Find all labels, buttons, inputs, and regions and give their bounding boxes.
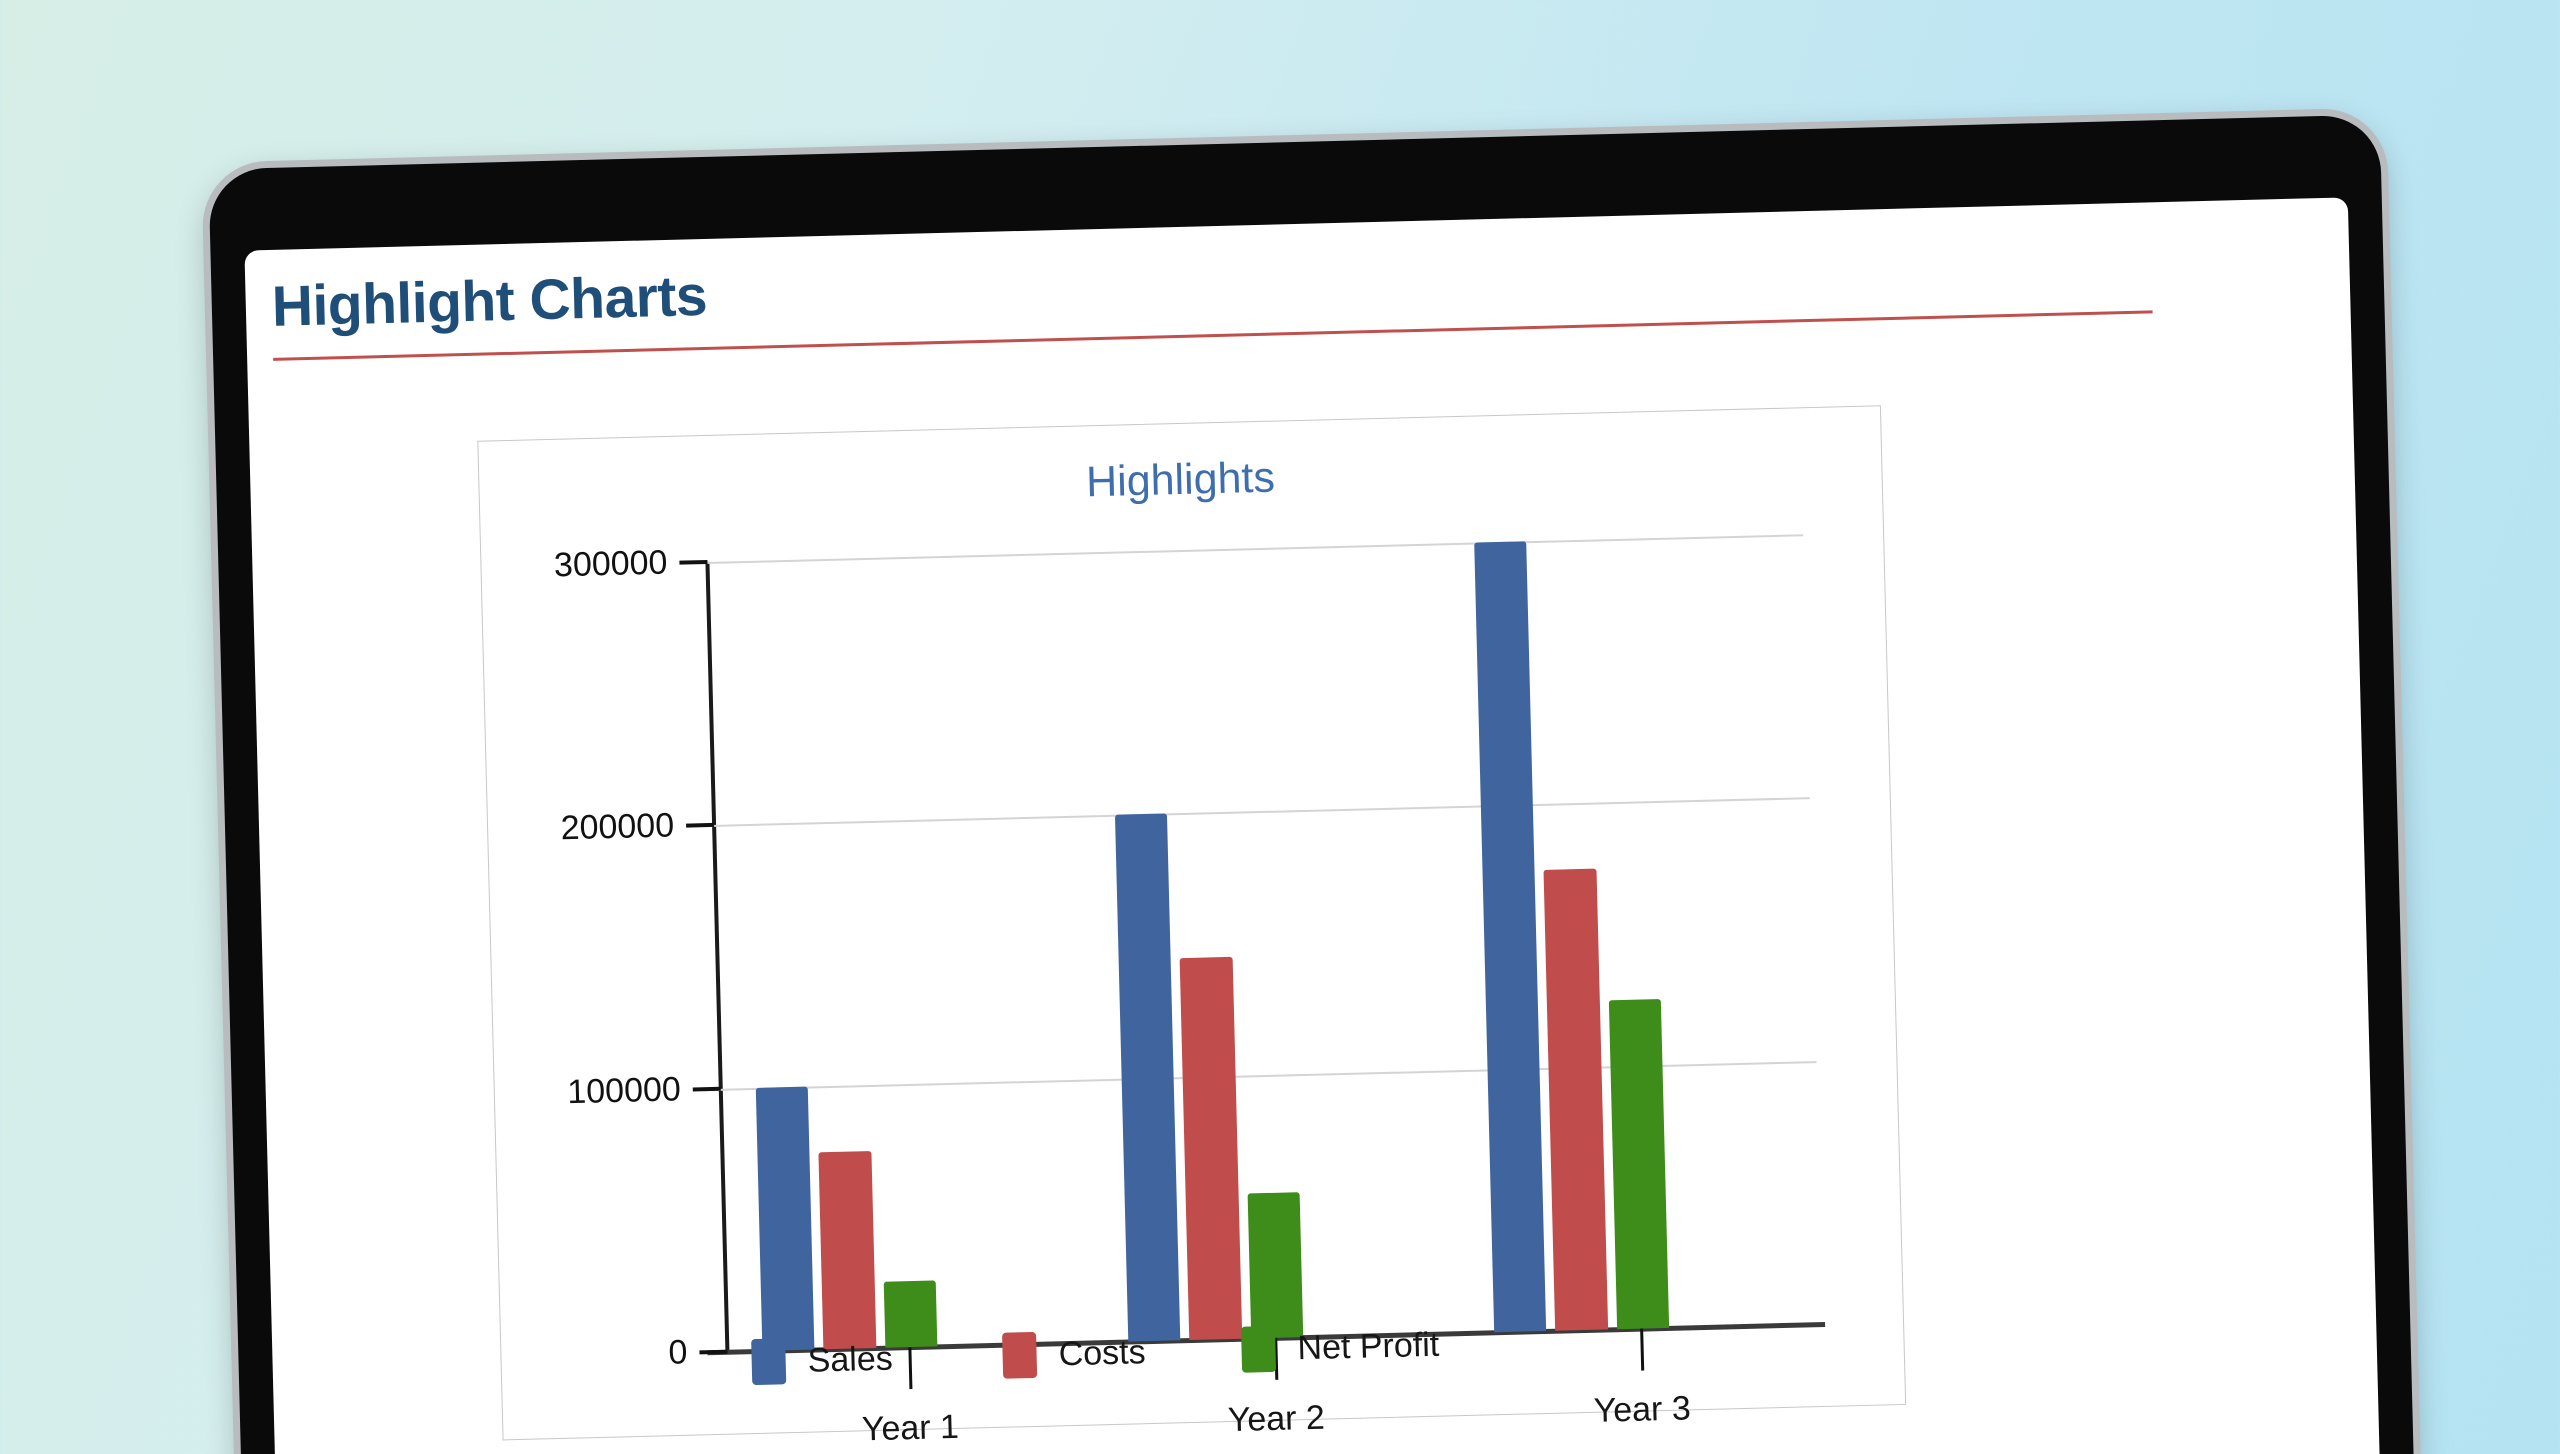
chart-title: Highlights (479, 438, 1882, 522)
y-axis-tick-mark (699, 1350, 727, 1355)
y-axis-tick-label: 300000 (554, 543, 668, 585)
bar-net-profit-year-2[interactable] (1247, 1192, 1303, 1338)
legend-label: Costs (1058, 1333, 1146, 1374)
bar-net-profit-year-3[interactable] (1608, 999, 1669, 1329)
legend-swatch-icon (751, 1338, 786, 1385)
y-axis-tick-label: 100000 (567, 1070, 681, 1112)
x-axis-tick-label: Year 3 (1593, 1389, 1691, 1430)
legend-item-costs[interactable]: Costs (1002, 1329, 1146, 1379)
bar-costs-year-3[interactable] (1544, 869, 1608, 1331)
bar-sales-year-2[interactable] (1115, 814, 1181, 1342)
legend-item-sales[interactable]: Sales (751, 1336, 893, 1386)
page-header: Highlight Charts (271, 230, 2162, 361)
y-axis-tick-label: 0 (668, 1333, 688, 1372)
y-axis-tick-mark (693, 1086, 721, 1091)
chart-card[interactable]: Highlights 0100000200000300000Year 1Year… (477, 405, 1906, 1440)
legend-swatch-icon (1241, 1326, 1276, 1373)
legend-swatch-icon (1002, 1332, 1037, 1379)
chart-plot-area: 0100000200000300000Year 1Year 2Year 3 (705, 534, 1823, 1352)
tablet-device-frame: Highlight Charts Highlights 010000020000… (208, 115, 2415, 1454)
legend-label: Sales (807, 1339, 893, 1380)
bar-sales-year-1[interactable] (755, 1086, 814, 1351)
tablet-screen: Highlight Charts Highlights 010000020000… (244, 197, 2381, 1454)
gridline (705, 534, 1803, 564)
legend-item-net-profit[interactable]: Net Profit (1241, 1322, 1440, 1373)
x-axis-tick-label: Year 2 (1227, 1399, 1325, 1440)
y-axis-tick-mark (679, 560, 707, 565)
page-title: Highlight Charts (271, 230, 2162, 338)
y-axis-tick-mark (686, 823, 714, 828)
legend-label: Net Profit (1297, 1325, 1440, 1368)
x-axis-tick-label: Year 1 (861, 1408, 959, 1449)
bar-costs-year-2[interactable] (1180, 957, 1242, 1340)
gridline (712, 797, 1810, 827)
y-axis-tick-label: 200000 (560, 807, 674, 849)
y-axis-line (705, 562, 729, 1352)
bar-sales-year-3[interactable] (1474, 541, 1547, 1332)
bar-costs-year-1[interactable] (818, 1151, 876, 1350)
